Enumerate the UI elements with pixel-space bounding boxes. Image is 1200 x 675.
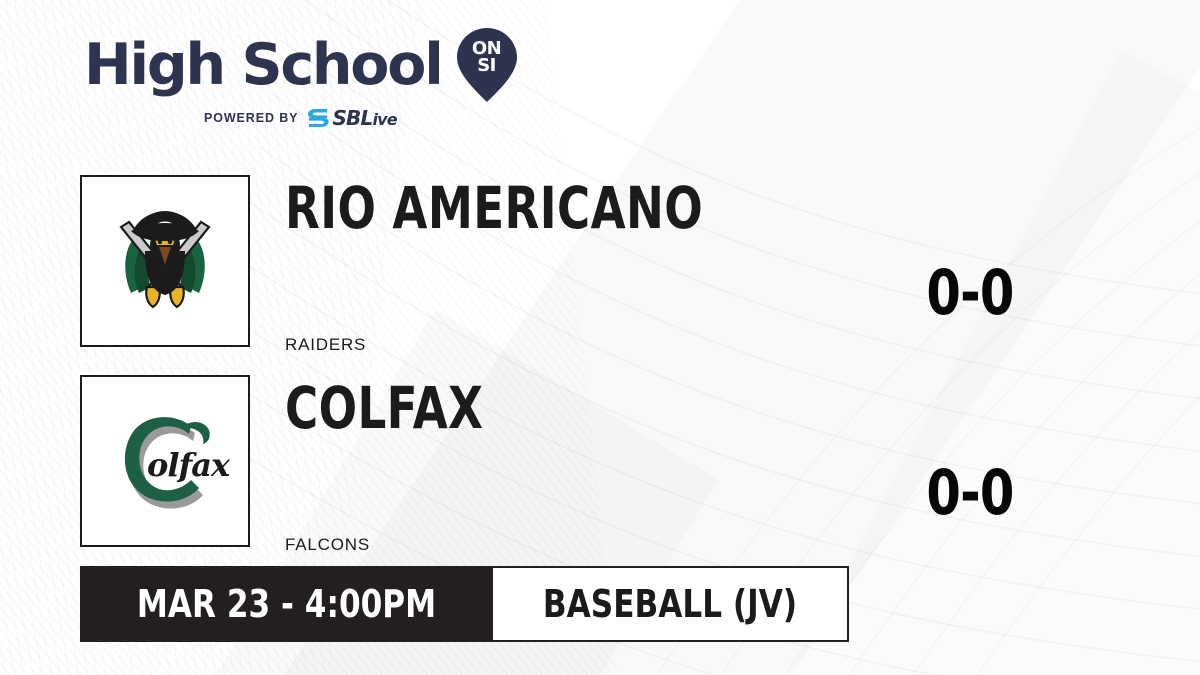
sblive-logo: SBLive (307, 106, 396, 130)
game-sport-badge: BASEBALL (JV) (493, 566, 849, 642)
colfax-script-c-icon: olfax (95, 396, 235, 526)
team-record-away: 0-0 (882, 462, 1058, 524)
sblive-wordmark: SBLive (332, 106, 396, 130)
team-logo-colfax: olfax (80, 375, 250, 547)
team-name-home: RIO AMERICANO (285, 179, 703, 237)
game-datetime-label: MAR 23 - 4:00PM (137, 585, 436, 623)
powered-by-label: POWERED BY (204, 111, 298, 125)
brand-title-row: High School ON SI (84, 32, 514, 98)
powered-by-row: POWERED BY SBLive (84, 107, 514, 129)
sblive-bolt-icon (307, 108, 329, 128)
team-mascot-home: RAIDERS (285, 335, 366, 355)
svg-text:olfax: olfax (147, 446, 231, 484)
team-name-away: COLFAX (285, 379, 483, 437)
raider-pirate-icon (99, 195, 231, 327)
sblive-word-suffix: ive (372, 110, 396, 129)
brand-header: High School ON SI POWERED BY SBLive (84, 32, 514, 136)
onsi-pin-icon: ON SI (456, 27, 518, 103)
sblive-word-main: SBL (332, 106, 372, 130)
game-datetime-badge: MAR 23 - 4:00PM (80, 566, 493, 642)
team-mascot-away: FALCONS (285, 535, 370, 555)
onsi-pin-line-si: SI (456, 57, 518, 74)
page-title: High School (84, 34, 442, 96)
onsi-pin-label: ON SI (456, 40, 518, 74)
team-logo-rio-americano (80, 175, 250, 347)
game-sport-label: BASEBALL (JV) (543, 585, 797, 623)
matchup-graphic: High School ON SI POWERED BY SBLive (0, 0, 1200, 675)
team-record-home: 0-0 (882, 262, 1058, 324)
game-info-bar: MAR 23 - 4:00PM BASEBALL (JV) (80, 566, 849, 642)
